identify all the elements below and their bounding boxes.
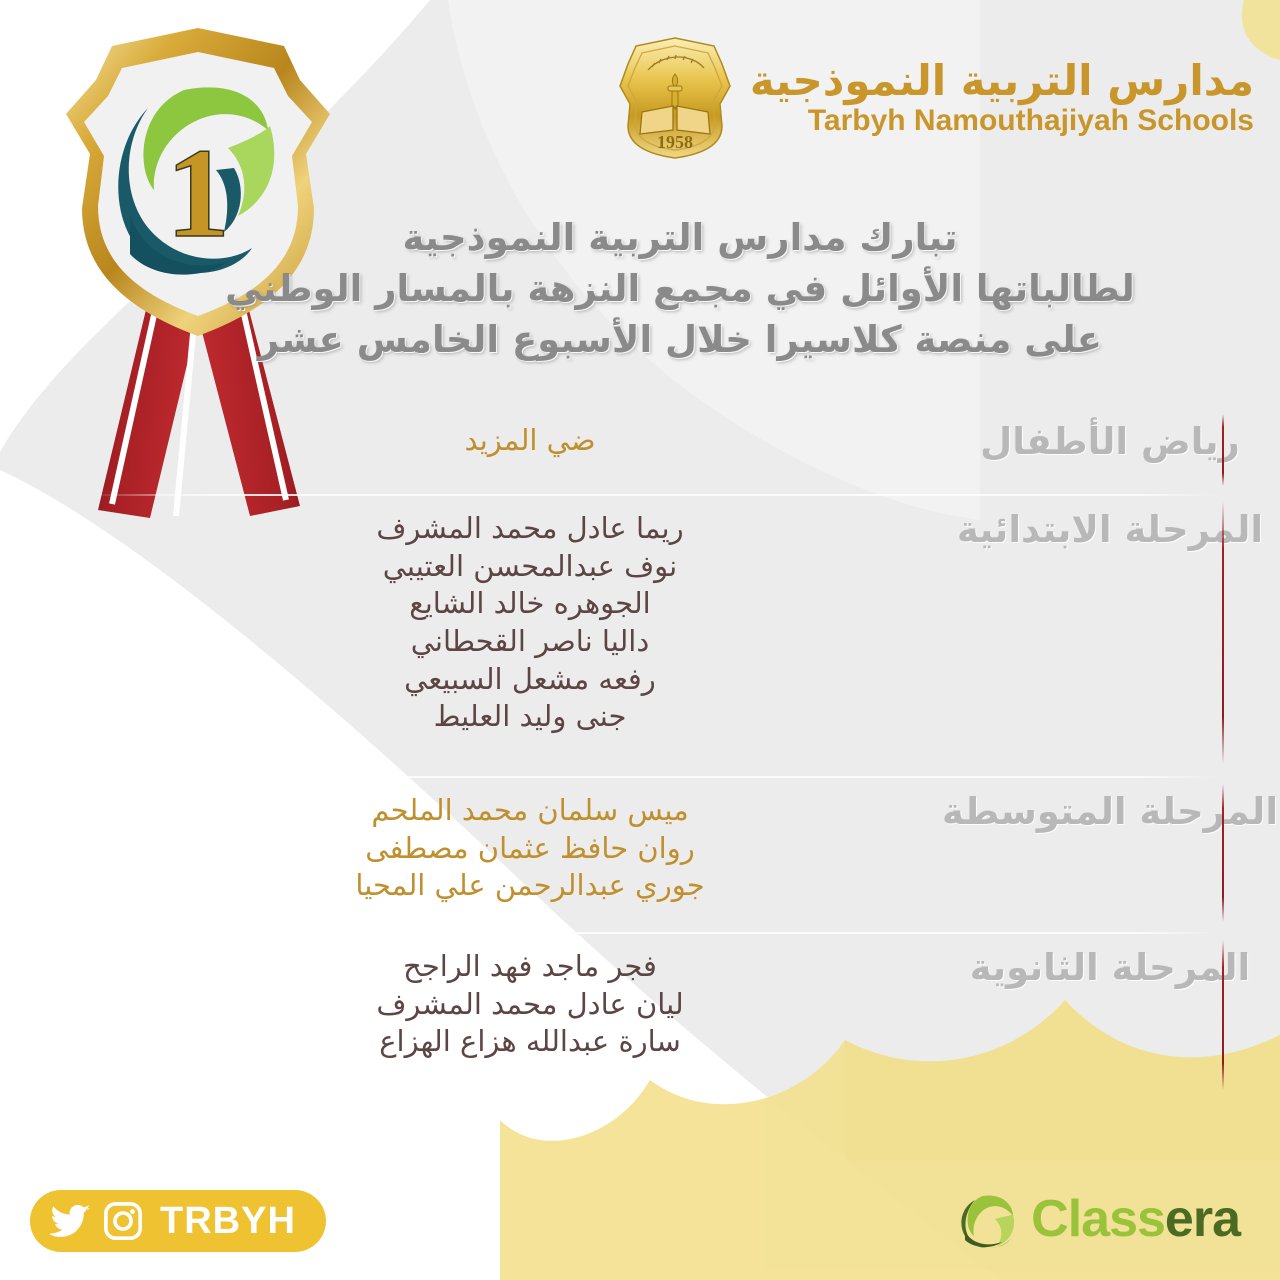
stage-title-secondary: المرحلة الثانوية bbox=[940, 946, 1280, 989]
stage-row-middle: المرحلة المتوسطة ميس سلمان محمد الملحم ر… bbox=[0, 778, 1280, 932]
classera-partner-logo[interactable]: Classera bbox=[957, 1188, 1240, 1250]
stage-names-primary: ريما عادل محمد المشرف نوف عبدالمحسن العت… bbox=[0, 496, 940, 736]
classera-swirl-icon bbox=[957, 1188, 1019, 1250]
classera-word-light: Class bbox=[1031, 1190, 1165, 1248]
student-name: رفعه مشعل السبيعي bbox=[120, 661, 940, 699]
stage-title-cell: المرحلة الثانوية bbox=[940, 934, 1280, 989]
instagram-icon[interactable] bbox=[102, 1200, 144, 1242]
poster-canvas: 1 1958 مدارس التربية النموذجية Tarbyh Na… bbox=[0, 0, 1280, 1280]
social-handle-pill[interactable]: TRBYH bbox=[30, 1190, 326, 1252]
student-name: ضي المزيد bbox=[120, 422, 940, 460]
student-name: سارة عبدالله هزاع الهزاع bbox=[120, 1023, 940, 1061]
stage-names-secondary: فجر ماجد فهد الراجح ليان عادل محمد المشر… bbox=[0, 934, 940, 1061]
student-name: ليان عادل محمد المشرف bbox=[120, 986, 940, 1024]
stage-title-middle: المرحلة المتوسطة bbox=[940, 790, 1280, 833]
stage-title-cell: رياض الأطفال bbox=[940, 408, 1280, 463]
school-brand-header: 1958 مدارس التربية النموذجية Tarbyh Namo… bbox=[616, 34, 1254, 162]
stage-names-kindergarten: ضي المزيد bbox=[0, 408, 940, 460]
student-name: فجر ماجد فهد الراجح bbox=[120, 948, 940, 986]
headline-line-2: لطالباتها الأوائل في مجمع النزهة بالمسار… bbox=[200, 263, 1160, 314]
stage-title-primary: المرحلة الابتدائية bbox=[940, 508, 1280, 551]
crest-year: 1958 bbox=[657, 132, 693, 152]
stage-row-secondary: المرحلة الثانوية فجر ماجد فهد الراجح ليا… bbox=[0, 934, 1280, 1094]
stage-row-kindergarten: رياض الأطفال ضي المزيد bbox=[0, 408, 1280, 494]
headline-block: تبارك مدارس التربية النموذجية لطالباتها … bbox=[200, 212, 1160, 365]
twitter-icon[interactable] bbox=[50, 1200, 92, 1242]
stage-title-kindergarten: رياض الأطفال bbox=[940, 420, 1280, 463]
headline-line-1: تبارك مدارس التربية النموذجية bbox=[200, 212, 1160, 263]
student-name: داليا ناصر القحطاني bbox=[120, 623, 940, 661]
classera-wordmark: Classera bbox=[1031, 1189, 1240, 1249]
brand-text-block: مدارس التربية النموذجية Tarbyh Namouthaj… bbox=[750, 59, 1254, 137]
student-name: الجوهره خالد الشايع bbox=[120, 585, 940, 623]
stage-list: رياض الأطفال ضي المزيد المرحلة الابتدائي… bbox=[0, 408, 1280, 1094]
social-handle-label: TRBYH bbox=[160, 1200, 296, 1243]
school-crest-icon: 1958 bbox=[616, 34, 734, 162]
student-name: ريما عادل محمد المشرف bbox=[120, 510, 940, 548]
stage-divider-tick bbox=[1222, 502, 1224, 764]
student-name: روان حافظ عثمان مصطفى bbox=[120, 830, 940, 868]
stage-divider-tick bbox=[1222, 940, 1224, 1090]
student-name: نوف عبدالمحسن العتيبي bbox=[120, 548, 940, 586]
stage-title-cell: المرحلة الابتدائية bbox=[940, 496, 1280, 551]
stage-divider-tick bbox=[1222, 414, 1224, 486]
brand-name-arabic: مدارس التربية النموذجية bbox=[750, 59, 1254, 104]
student-name: جوري عبدالرحمن علي المحيا bbox=[120, 867, 940, 905]
headline-line-3: على منصة كلاسيرا خلال الأسبوع الخامس عشر bbox=[200, 314, 1160, 365]
stage-names-middle: ميس سلمان محمد الملحم روان حافظ عثمان مص… bbox=[0, 778, 940, 905]
stage-row-primary: المرحلة الابتدائية ريما عادل محمد المشرف… bbox=[0, 496, 1280, 776]
student-name: جنى وليد العليط bbox=[120, 698, 940, 736]
stage-title-cell: المرحلة المتوسطة bbox=[940, 778, 1280, 833]
brand-name-english: Tarbyh Namouthajiyah Schools bbox=[750, 105, 1254, 137]
classera-word-dark: era bbox=[1165, 1190, 1240, 1248]
stage-divider-tick bbox=[1222, 784, 1224, 922]
student-name: ميس سلمان محمد الملحم bbox=[120, 792, 940, 830]
